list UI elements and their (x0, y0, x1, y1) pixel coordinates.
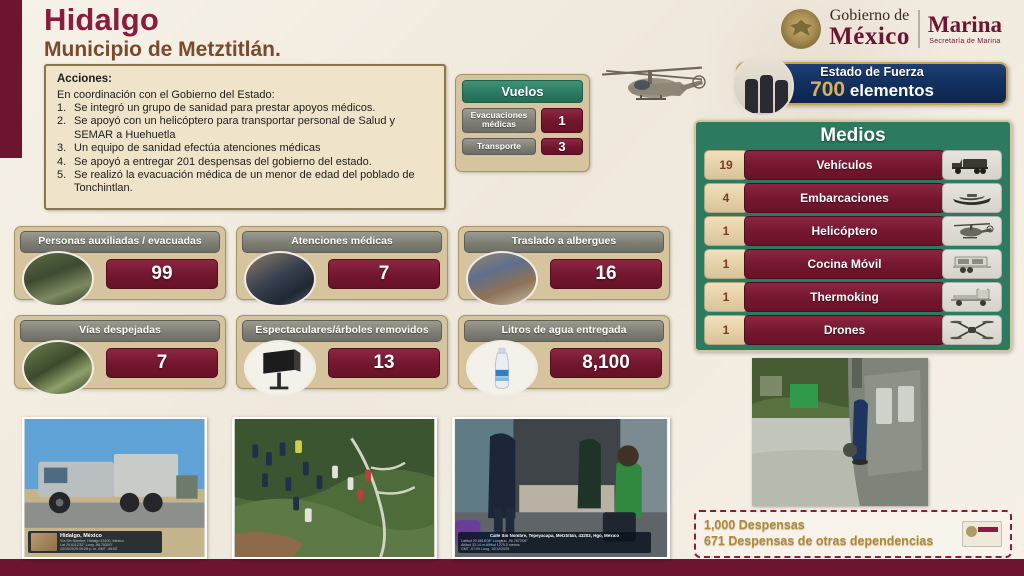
list-item: 5.Se realizó la evacuación médica de un … (57, 169, 435, 196)
stat-card-personas-auxiliadas: Personas auxiliadas / evacuadas 99 (14, 226, 226, 300)
rescue-photo (22, 251, 94, 307)
gps-line: 10/10/2025 09:28 p. m. GMT -06:00 (60, 547, 159, 551)
medios-label: Helicóptero (744, 216, 945, 246)
medios-row: 1 Helicóptero (704, 216, 1002, 246)
stat-label: Personas auxiliadas / evacuadas (20, 231, 220, 253)
stat-value: 99 (106, 259, 218, 289)
stat-value: 16 (550, 259, 662, 289)
gps-text: Hidalgo, México Vía Sin Nombre, Hidalgo … (60, 533, 159, 551)
gps-stamp: Calle Sin Nombre, Tepeyacapa, Metztitlán… (458, 532, 651, 553)
page-title-block: Hidalgo Municipio de Metztitlán. (44, 4, 281, 62)
medical-photo (244, 251, 316, 307)
stat-card-vias-despejadas: Vías despejadas 7 (14, 315, 226, 389)
vuelos-value: 1 (541, 108, 583, 133)
list-number: 2. (57, 115, 66, 128)
drone-icon (942, 315, 1002, 345)
truck-icon (942, 150, 1002, 180)
stat-label: Litros de agua entregada (464, 320, 664, 342)
medios-count: 19 (704, 150, 748, 180)
list-text: Se integró un grupo de sanidad para pres… (74, 102, 375, 114)
marina-subtitle: Secretaría de Marina (928, 38, 1002, 45)
boat-icon (942, 183, 1002, 213)
list-number: 3. (57, 142, 66, 155)
mobile-kitchen-icon (942, 249, 1002, 279)
stat-body: 16 (464, 253, 664, 293)
vuelos-row: Evacuaciones médicas 1 (462, 108, 583, 133)
billboard-icon (244, 340, 316, 396)
medios-row: 1 Drones (704, 315, 1002, 345)
estado-de-fuerza-unit: elementos (850, 81, 934, 100)
gov-line-1: Gobierno de (829, 8, 910, 24)
list-text: Un equipo de sanidad efectúa atenciones … (74, 142, 320, 154)
road-clearing-photo (22, 340, 94, 396)
medios-row: 1 Thermoking (704, 282, 1002, 312)
list-item: 1.Se integró un grupo de sanidad para pr… (57, 102, 435, 115)
medios-label: Embarcaciones (744, 183, 945, 213)
list-number: 4. (57, 156, 66, 169)
medios-label: Vehículos (744, 150, 945, 180)
stat-value: 13 (328, 348, 440, 378)
list-text: Se realizó la evacuación médica de un me… (74, 169, 415, 194)
stat-body: 13 (242, 342, 442, 382)
gobierno-de-mexico-wordmark: Gobierno de México (829, 8, 910, 49)
supplies-delivery-photo: Calle Sin Nombre, Tepeyacapa, Metztitlán… (452, 417, 670, 559)
thermoking-truck-icon (942, 282, 1002, 312)
stat-card-espectaculares-arboles: Espectaculares/árboles removidos 13 (236, 315, 448, 389)
helicopter-icon (942, 216, 1002, 246)
marina-title: Marina (928, 13, 1002, 36)
list-number: 1. (57, 102, 66, 115)
marina-wordmark: Marina Secretaría de Marina (928, 13, 1002, 45)
vuelos-value: 3 (541, 138, 583, 155)
slope-brigade-photo (232, 417, 437, 559)
stat-label: Traslado a albergues (464, 231, 664, 253)
shelter-photo (466, 251, 538, 307)
acciones-lead: En coordinación con el Gobierno del Esta… (57, 89, 435, 101)
list-number: 5. (57, 169, 66, 182)
stat-label: Espectaculares/árboles removidos (242, 320, 442, 342)
medios-row: 1 Cocina Móvil (704, 249, 1002, 279)
convoy-truck-photo: Hidalgo, México Vía Sin Nombre, Hidalgo … (22, 417, 207, 559)
left-accent-bar (0, 0, 22, 158)
despensas-line-1: 1,000 Despensas (704, 518, 962, 534)
helicopter-landing-photo (752, 358, 928, 506)
medios-label: Thermoking (744, 282, 945, 312)
despensas-line-2: 671 Despensas de otras dependencias (704, 534, 962, 550)
gps-stamp: Hidalgo, México Vía Sin Nombre, Hidalgo … (28, 531, 162, 553)
list-item: 3.Un equipo de sanidad efectúa atencione… (57, 142, 435, 155)
list-item: 4.Se apoyó a entregar 201 despensas del … (57, 156, 435, 169)
vuelos-title: Vuelos (462, 80, 583, 103)
medios-count: 1 (704, 315, 748, 345)
stat-value: 8,100 (550, 348, 662, 378)
gov-line-2: México (829, 24, 910, 49)
acciones-heading: Acciones: (57, 73, 435, 85)
stat-label: Atenciones médicas (242, 231, 442, 253)
stat-label: Vías despejadas (20, 320, 220, 342)
despensas-banner: 1,000 Despensas 671 Despensas de otras d… (694, 510, 1012, 558)
gps-minimap (31, 533, 57, 551)
acciones-panel: Acciones: En coordinación con el Gobiern… (44, 64, 446, 210)
despensa-package-icon (962, 521, 1002, 547)
logo-divider (918, 10, 920, 48)
list-text: Se apoyó a entregar 201 despensas del go… (74, 156, 372, 168)
stat-value: 7 (106, 348, 218, 378)
mexico-eagle-icon (781, 9, 821, 49)
medios-count: 4 (704, 183, 748, 213)
medios-panel: Medios 19 Vehículos 4 Embarcaciones 1 He… (694, 120, 1012, 352)
stat-card-atenciones-medicas: Atenciones médicas 7 (236, 226, 448, 300)
page-subtitle: Municipio de Metztitlán. (44, 38, 281, 62)
stat-body: 8,100 (464, 342, 664, 382)
medios-count: 1 (704, 216, 748, 246)
list-text: Se apoyó con un helicóptero para transpo… (74, 115, 395, 140)
vuelos-label: Evacuaciones médicas (462, 108, 536, 133)
stat-body: 7 (20, 342, 220, 382)
estado-de-fuerza-count: 700 (810, 78, 845, 101)
water-bottle-icon (466, 340, 538, 396)
despensas-text: 1,000 Despensas 671 Despensas de otras d… (704, 518, 962, 549)
list-item: 2.Se apoyó con un helicóptero para trans… (57, 115, 435, 142)
medios-row: 19 Vehículos (704, 150, 1002, 180)
footer-accent-bar (0, 559, 1024, 576)
medios-count: 1 (704, 282, 748, 312)
stat-card-traslado-albergues: Traslado a albergues 16 (458, 226, 670, 300)
helicopter-photo (596, 52, 708, 114)
medios-label: Cocina Móvil (744, 249, 945, 279)
medios-label: Drones (744, 315, 945, 345)
gps-line: GMT -07:00 Long. 10/12/2025 (461, 547, 648, 551)
page-title: Hidalgo (44, 4, 281, 37)
vuelos-label: Transporte (462, 138, 536, 155)
government-logo: Gobierno de México Marina Secretaría de … (781, 8, 1002, 49)
estado-de-fuerza-value: 700 elementos (810, 79, 934, 101)
slide-canvas: Hidalgo Municipio de Metztitlán. Gobiern… (0, 0, 1024, 576)
medios-count: 1 (704, 249, 748, 279)
medios-title: Medios (704, 125, 1002, 148)
stat-body: 7 (242, 253, 442, 293)
stat-body: 99 (20, 253, 220, 293)
vuelos-panel: Vuelos Evacuaciones médicas 1 Transporte… (455, 74, 590, 172)
acciones-list: 1.Se integró un grupo de sanidad para pr… (57, 102, 435, 196)
stat-value: 7 (328, 259, 440, 289)
stat-card-litros-agua: Litros de agua entregada 8,100 (458, 315, 670, 389)
vuelos-row: Transporte 3 (462, 138, 583, 155)
personnel-photo (732, 55, 794, 117)
medios-row: 4 Embarcaciones (704, 183, 1002, 213)
gps-text: Calle Sin Nombre, Tepeyacapa, Metztitlán… (461, 534, 648, 551)
